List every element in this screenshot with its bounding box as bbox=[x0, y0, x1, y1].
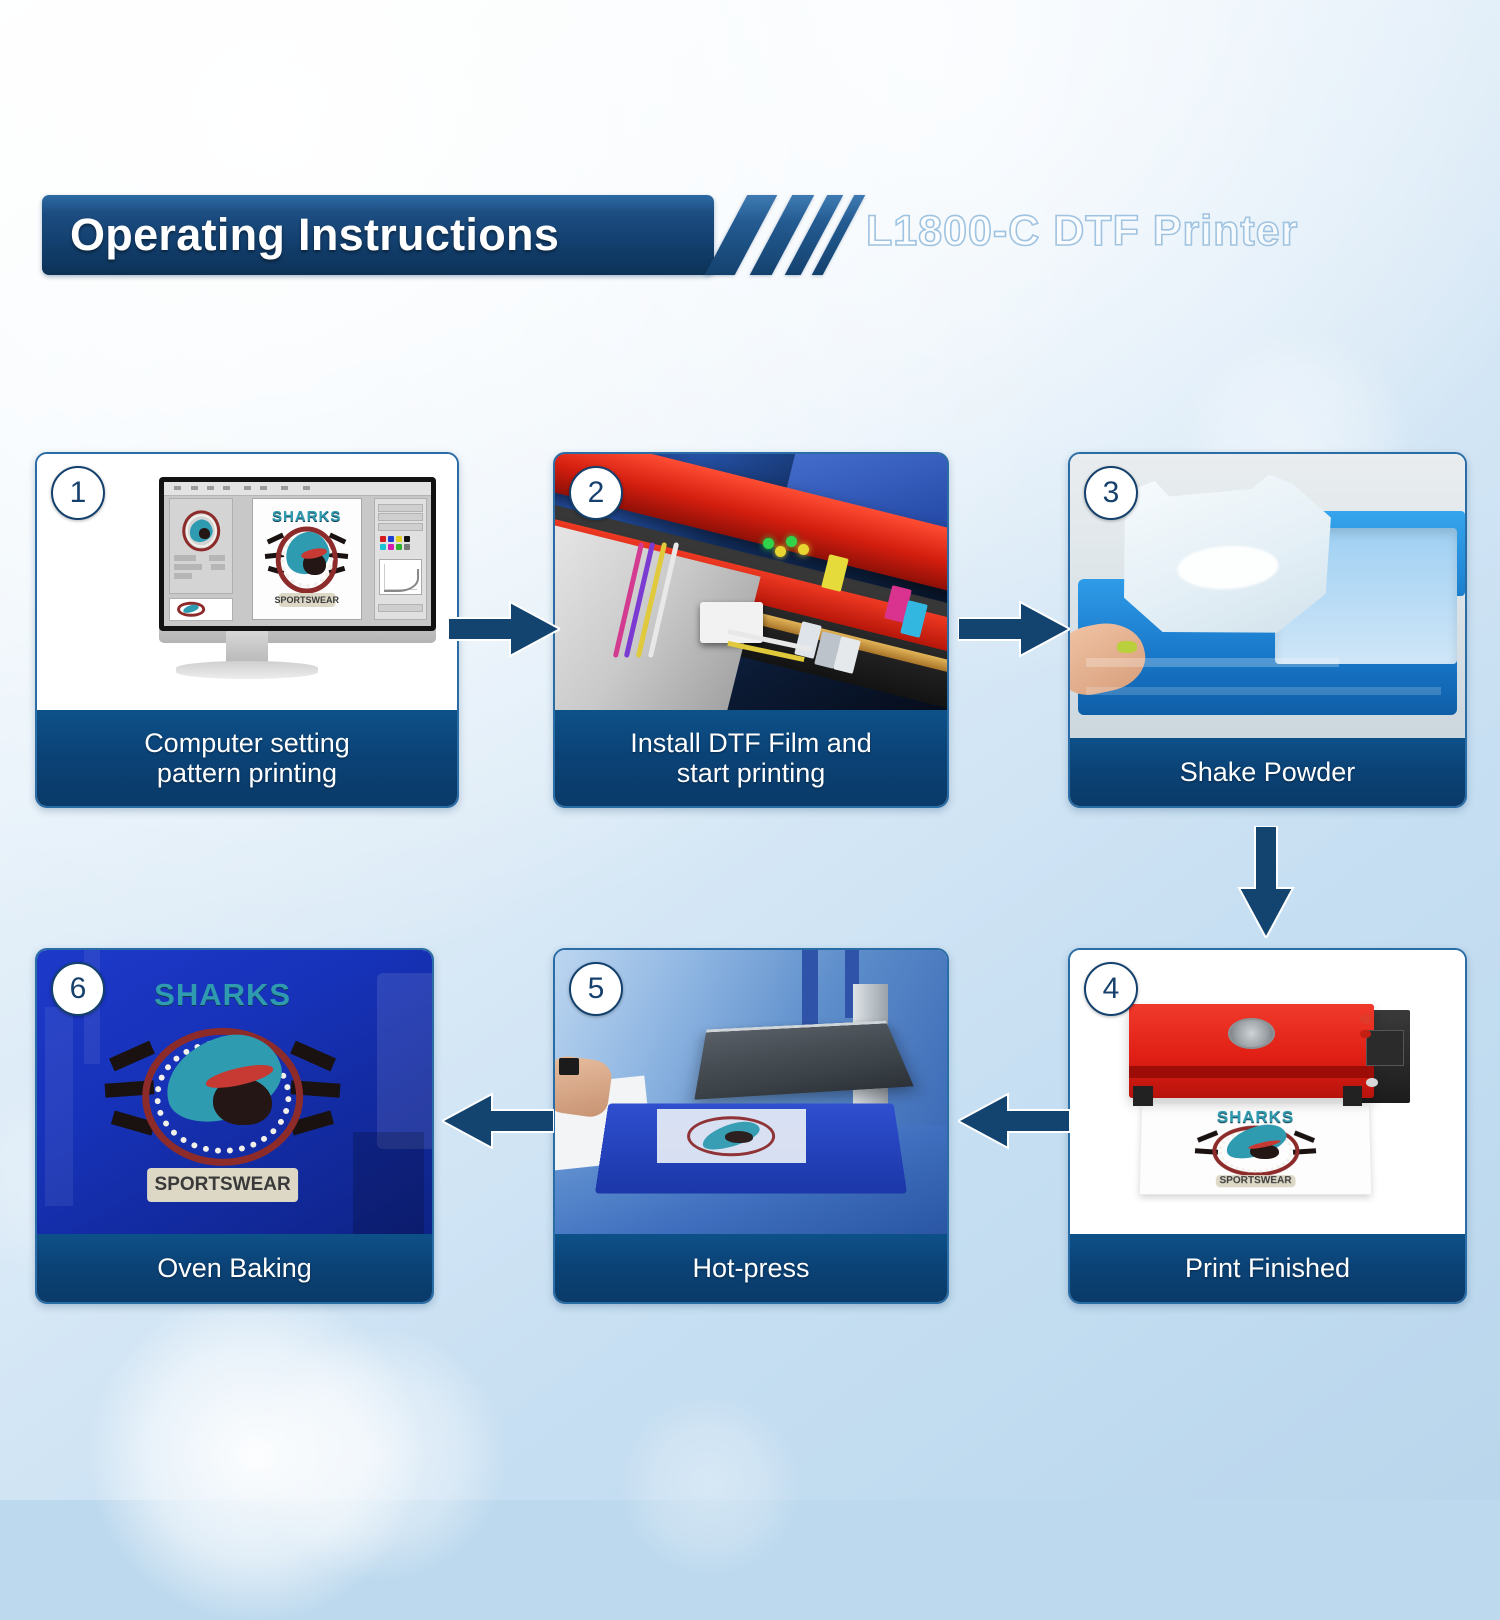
step-card-6: 6 SHARKS SPORTSWEAR bbox=[35, 948, 434, 1304]
caption-line: Print Finished bbox=[1179, 1253, 1356, 1283]
bokeh-circle bbox=[620, 1395, 800, 1575]
step-caption-2: Install DTF Film andstart printing bbox=[555, 710, 947, 806]
product-model-subtitle: L1800-C DTF Printer bbox=[866, 207, 1298, 256]
heat-press-platen bbox=[695, 1020, 914, 1099]
step-number-badge-1: 1 bbox=[51, 466, 105, 520]
caption-line: Hot-press bbox=[686, 1253, 815, 1283]
caption-line: start printing bbox=[671, 758, 832, 788]
step-caption-6: Oven Baking bbox=[37, 1234, 432, 1302]
caption-line: Oven Baking bbox=[151, 1253, 318, 1283]
caption-line: pattern printing bbox=[151, 758, 343, 788]
step-card-5: 5 Hot-press bbox=[553, 948, 949, 1304]
caption-line: Install DTF Film and bbox=[624, 728, 878, 758]
arrow-step1-to-step2 bbox=[448, 598, 560, 660]
tshirt-print: SHARKS SPORTSWEAR bbox=[100, 973, 345, 1212]
step-card-2: 2 Install DTF Fi bbox=[553, 452, 949, 808]
arrow-step5-to-step6 bbox=[442, 1090, 554, 1152]
step-caption-1: Computer settingpattern printing bbox=[37, 710, 457, 806]
logo-top-text: SHARKS bbox=[272, 508, 341, 525]
title-bar: Operating Instructions bbox=[42, 195, 714, 275]
step-card-4: 4 SHARKS SPORTSWEAR bbox=[1068, 948, 1467, 1304]
arrow-step4-to-step5 bbox=[958, 1090, 1070, 1152]
logo-bottom-text: SPORTSWEAR bbox=[147, 1168, 299, 1201]
step-card-1: 1 bbox=[35, 452, 459, 808]
step-number-badge-3: 3 bbox=[1084, 466, 1138, 520]
step-card-3: 3 Shake Powder bbox=[1068, 452, 1467, 808]
arrow-step3-to-step4 bbox=[1235, 826, 1297, 938]
step-number-badge-6: 6 bbox=[51, 962, 105, 1016]
step-number-badge-5: 5 bbox=[569, 962, 623, 1016]
logo-bottom-text: SPORTSWEAR bbox=[1216, 1175, 1296, 1187]
step-caption-4: Print Finished bbox=[1070, 1234, 1465, 1302]
step-number-badge-4: 4 bbox=[1084, 962, 1138, 1016]
arrow-step2-to-step3 bbox=[958, 598, 1070, 660]
step-caption-3: Shake Powder bbox=[1070, 738, 1465, 806]
step-number-badge-2: 2 bbox=[569, 466, 623, 520]
monitor-bezel: SHARKS SPORTSWEAR bbox=[159, 477, 436, 631]
caption-line: Computer setting bbox=[138, 728, 356, 758]
page-title: Operating Instructions bbox=[70, 209, 559, 261]
step-caption-5: Hot-press bbox=[555, 1234, 947, 1302]
bokeh-circle bbox=[255, 1330, 505, 1580]
caption-line: Shake Powder bbox=[1174, 757, 1362, 787]
logo-top-text: SHARKS bbox=[1217, 1107, 1294, 1127]
logo-top-text: SHARKS bbox=[154, 977, 291, 1013]
header-banner: Operating Instructions L1800-C DTF Print… bbox=[0, 185, 1500, 285]
printed-film: SHARKS SPORTSWEAR bbox=[1140, 1104, 1372, 1195]
logo-bottom-text: SPORTSWEAR bbox=[278, 593, 335, 607]
